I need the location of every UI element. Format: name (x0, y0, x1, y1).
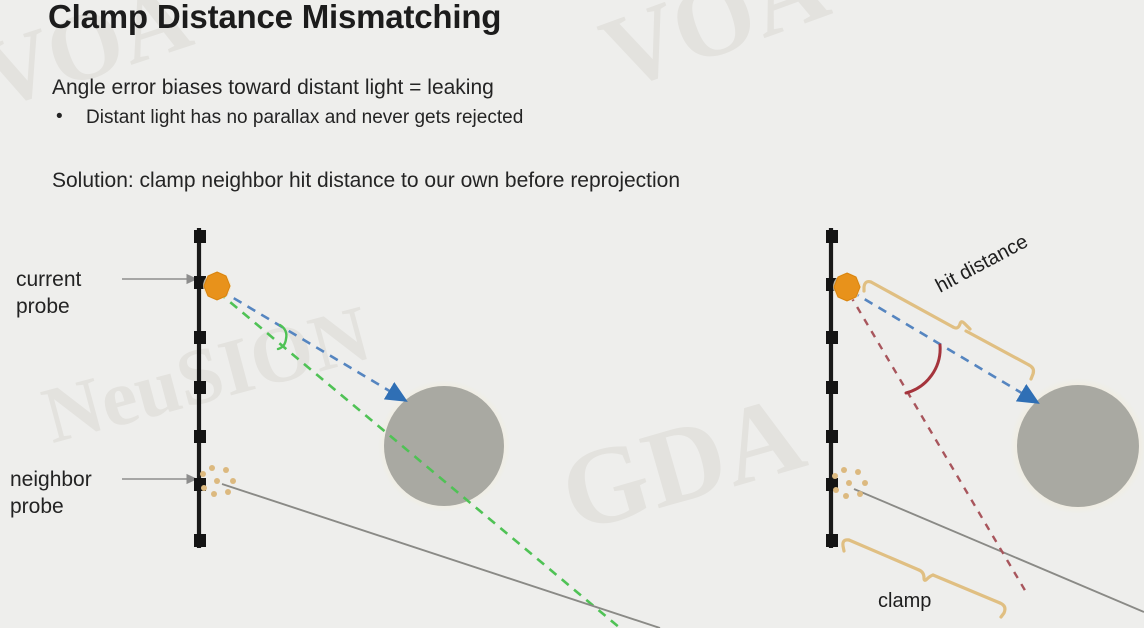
current-probe-label-line1: current (16, 268, 82, 291)
right-wall (826, 228, 838, 548)
neighbor-probe-label-line1: neighbor (10, 468, 92, 491)
left-wall-tick (194, 230, 206, 243)
left-wall-tick (194, 381, 206, 394)
left-current-probe (203, 272, 231, 300)
right-wall-tick (826, 534, 838, 547)
left-wall-tick (194, 331, 206, 344)
left-green-ray-unclamped (218, 292, 620, 628)
neighbor-probe-label-line2: probe (10, 495, 64, 518)
slide-root: VOA VOA GDA NeuSION Clamp Distance Misma… (0, 0, 1144, 628)
right-wall-tick (826, 430, 838, 443)
left-wall (194, 228, 206, 548)
hit-distance-label: hit distance (932, 230, 1032, 297)
right-current-probe (833, 273, 861, 301)
left-diagram-canvas: current probe neighbor probe (0, 0, 1144, 628)
right-occluder-sphere (1017, 385, 1139, 507)
left-wall-tick (194, 534, 206, 547)
clamp-label: clamp (878, 590, 931, 612)
current-probe-callout: current probe (16, 268, 196, 318)
hit-distance-brace (864, 282, 1034, 379)
right-wall-tick (826, 381, 838, 394)
left-occluder-sphere (384, 386, 504, 506)
left-wall-tick (194, 430, 206, 443)
left-blue-ray-hit (220, 290, 398, 396)
right-wall-tick (826, 331, 838, 344)
current-probe-label-line2: probe (16, 295, 70, 318)
left-angle-bracket-marker (278, 325, 286, 349)
right-angle-arc-marker (906, 345, 940, 393)
right-maroon-ray-clamped (850, 295, 1026, 592)
neighbor-probe-callout: neighbor probe (10, 468, 196, 518)
right-wall-tick (826, 230, 838, 243)
